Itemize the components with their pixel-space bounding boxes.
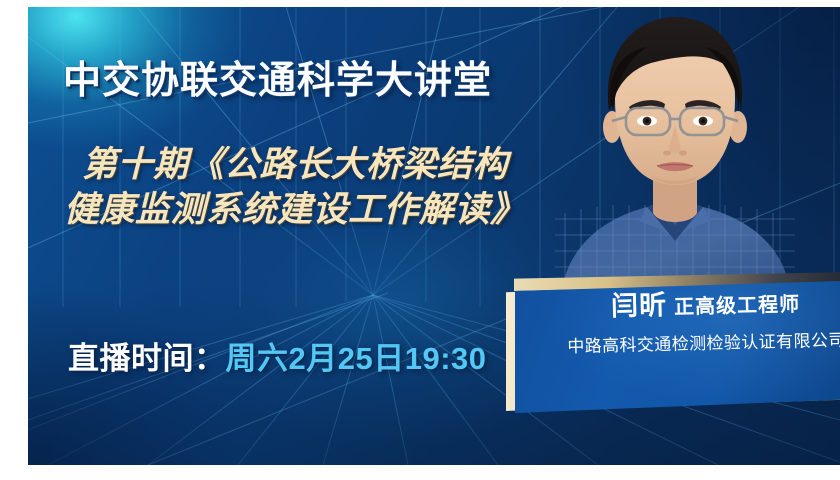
- subtitle-line-1: 第十期《公路长大桥梁结构: [64, 143, 604, 188]
- programme-subtitle: 第十期《公路长大桥梁结构 健康监测系统建设工作解读》: [64, 143, 604, 233]
- poster-artwork: 中交协联交通科学大讲堂 第十期《公路长大桥梁结构 健康监测系统建设工作解读》 直…: [28, 7, 840, 465]
- live-time-value: 周六2月25日19:30: [226, 341, 487, 376]
- speaker-card: 闫昕正高级工程师 中路高科交通检测检验认证有限公司: [506, 265, 840, 415]
- page-title: 中交协联交通科学大讲堂: [63, 49, 492, 104]
- speaker-card-text: 闫昕正高级工程师 中路高科交通检测检验认证有限公司: [525, 287, 840, 358]
- speaker-name: 闫昕: [611, 290, 668, 321]
- subtitle-line-2: 健康监测系统建设工作解读》: [64, 188, 604, 233]
- poster-root: 中交协联交通科学大讲堂 第十期《公路长大桥梁结构 健康监测系统建设工作解读》 直…: [0, 0, 840, 480]
- speaker-role: 正高级工程师: [674, 294, 800, 319]
- live-time-row: 直播时间：周六2月25日19:30: [68, 333, 487, 378]
- live-time-label: 直播时间：: [68, 341, 226, 376]
